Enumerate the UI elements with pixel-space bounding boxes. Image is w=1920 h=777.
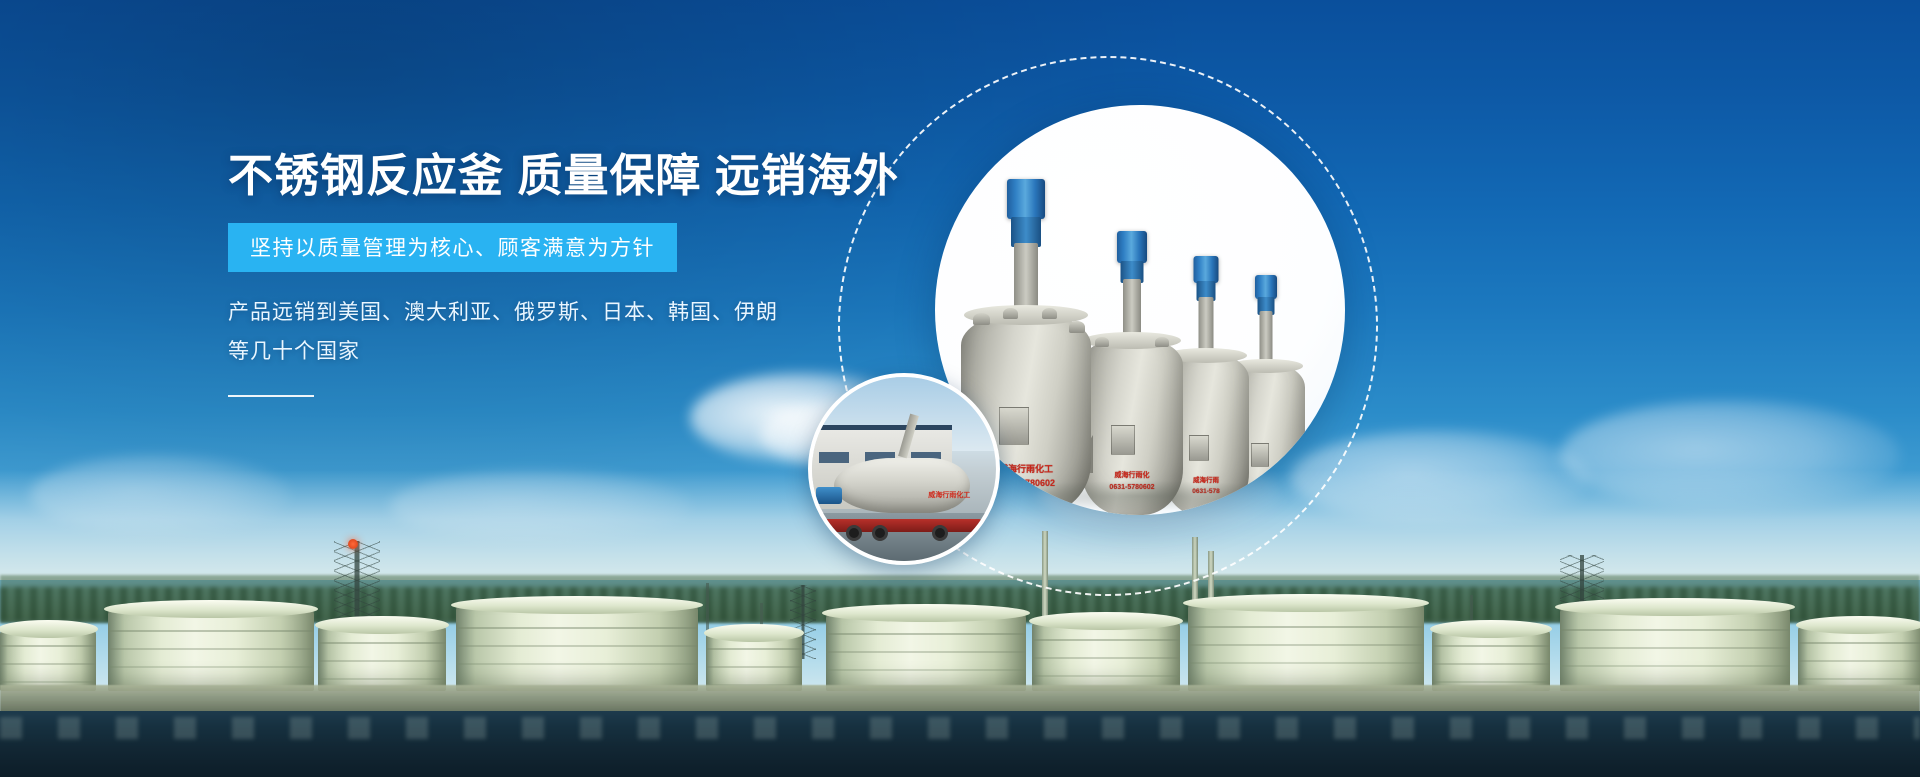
- agitator-motor: [1255, 275, 1277, 299]
- flange: [1155, 337, 1169, 347]
- factory-window: [819, 452, 849, 463]
- factory-brand-label: 威海行雨化工: [928, 491, 970, 500]
- banner-subtitle-text: 坚持以质量管理为核心、顾客满意为方针: [250, 237, 655, 260]
- banner-subtitle-bar: 坚持以质量管理为核心、顾客满意为方针: [228, 223, 677, 272]
- storage-tank: [1560, 607, 1790, 691]
- flange: [1042, 308, 1057, 319]
- agitator-motor: [1194, 256, 1219, 283]
- flange: [1003, 308, 1018, 319]
- agitator-motor: [1007, 179, 1045, 219]
- storage-tank: [108, 609, 314, 691]
- banner-headline: 不锈钢反应釜 质量保障 远销海外: [228, 150, 868, 202]
- agitator-shaft: [1199, 297, 1214, 355]
- banner-description: 产品远销到美国、澳大利亚、俄罗斯、日本、韩国、伊朗 等几十个国家: [228, 294, 868, 372]
- pylon-beacon-icon: [348, 539, 358, 549]
- nameplate: [1111, 425, 1135, 455]
- water-reflection: [0, 717, 1920, 739]
- trailer-wheel: [932, 525, 948, 541]
- flange: [1069, 321, 1085, 333]
- divider-rule: [228, 395, 314, 397]
- storage-tank: [1798, 625, 1920, 691]
- storage-tank: [706, 633, 802, 691]
- agitator-motor: [816, 487, 842, 504]
- nameplate: [999, 407, 1029, 445]
- nameplate: [1251, 443, 1269, 467]
- description-line-2: 等几十个国家: [228, 333, 868, 372]
- trailer-wheel: [872, 525, 888, 541]
- flange: [1095, 337, 1109, 347]
- storage-tank: [1432, 629, 1550, 691]
- banner-copy: 不锈钢反应釜 质量保障 远销海外 坚持以质量管理为核心、顾客满意为方针 产品远销…: [228, 150, 868, 397]
- flange: [973, 313, 990, 325]
- storage-tank: [1188, 603, 1424, 691]
- loaded-reactor-vessel: [834, 458, 970, 513]
- agitator-motor: [1117, 231, 1147, 263]
- storage-tank: [318, 625, 446, 691]
- description-line-1: 产品远销到美国、澳大利亚、俄罗斯、日本、韩国、伊朗: [228, 294, 868, 333]
- storage-tank: [826, 613, 1026, 691]
- storage-tank: [0, 629, 96, 691]
- storage-tank: [1032, 621, 1180, 691]
- hero-banner: 不锈钢反应釜 质量保障 远销海外 坚持以质量管理为核心、顾客满意为方针 产品远销…: [0, 0, 1920, 777]
- product-ground-shadow: [960, 481, 1321, 511]
- agitator-shaft: [1123, 279, 1141, 339]
- trailer-wheel: [846, 525, 862, 541]
- storage-tank: [456, 605, 698, 691]
- reactor-brand-label: 威海行雨化: [1081, 472, 1183, 481]
- factory-photo-circle: 威海行雨化工: [808, 373, 1000, 565]
- reactor-vessel: 威海行雨化 0631-5780602: [1081, 215, 1183, 515]
- nameplate: [1189, 435, 1209, 461]
- agitator-shaft: [1260, 311, 1273, 365]
